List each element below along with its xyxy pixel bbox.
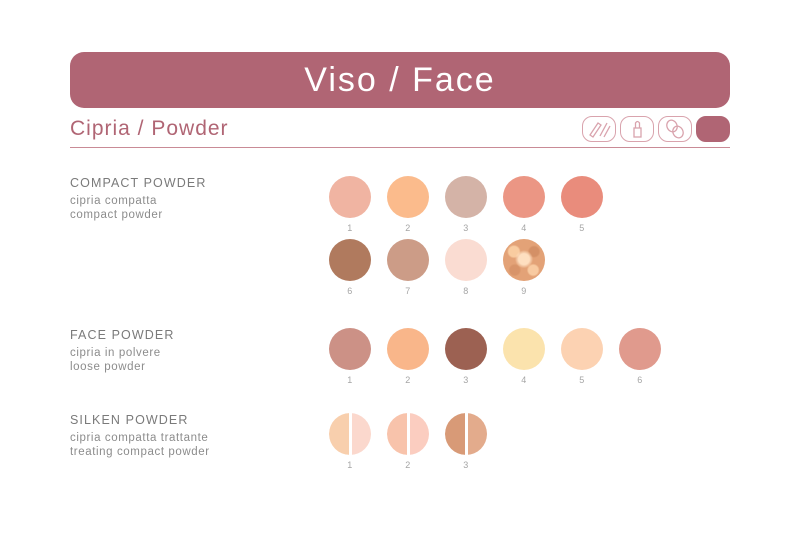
lipstick-icon[interactable] (620, 116, 654, 142)
shade-swatch[interactable] (619, 328, 661, 370)
subcategory-title: Cipria / Powder (70, 117, 229, 141)
section-title: FACE POWDER (70, 328, 320, 342)
section-title: COMPACT POWDER (70, 176, 320, 190)
page-title-bar: Viso / Face (70, 52, 730, 108)
section-subtitle-it: cipria compatta trattante (70, 431, 320, 445)
swatch-cell[interactable]: 7 (383, 239, 433, 296)
swatch-cell[interactable]: 6 (325, 239, 375, 296)
active-category-swatch-icon[interactable] (696, 116, 730, 142)
section-subtitle-it: cipria compatta (70, 194, 320, 208)
swatch-number: 5 (579, 223, 585, 233)
shade-swatch[interactable] (329, 176, 371, 218)
swatch-cell[interactable]: 5 (557, 176, 607, 233)
swatch-cell[interactable]: 2 (383, 176, 433, 233)
swatch-number: 3 (463, 375, 469, 385)
swatch-number: 9 (521, 286, 527, 296)
swatch-cell[interactable]: 4 (499, 176, 549, 233)
shade-swatch[interactable] (445, 413, 487, 455)
swatch-cell[interactable]: 3 (441, 328, 491, 385)
swatch-number: 6 (347, 286, 353, 296)
shade-swatch[interactable] (387, 413, 429, 455)
swatch-row: 123 (325, 413, 491, 470)
swatch-number: 3 (463, 223, 469, 233)
swatch-cell[interactable]: 5 (557, 328, 607, 385)
swatch-half-left (387, 413, 407, 455)
swatch-half-left (445, 413, 465, 455)
swatch-row: 6789 (325, 239, 607, 296)
swatch-row: 123456 (325, 328, 665, 385)
swatch-number: 8 (463, 286, 469, 296)
swatch-number: 6 (637, 375, 643, 385)
swatch-number: 3 (463, 460, 469, 470)
swatch-half-right (352, 413, 372, 455)
swatch-number: 2 (405, 460, 411, 470)
catalog-page: Viso / Face Cipria / Powder (0, 0, 800, 555)
swatch-number: 7 (405, 286, 411, 296)
pencil-brush-icon[interactable] (582, 116, 616, 142)
shade-swatch[interactable] (387, 239, 429, 281)
swatch-cell[interactable]: 1 (325, 328, 375, 385)
swatch-cell[interactable]: 1 (325, 413, 375, 470)
shade-swatch[interactable] (329, 328, 371, 370)
swatch-number: 1 (347, 375, 353, 385)
shade-swatch[interactable] (445, 176, 487, 218)
swatch-number: 4 (521, 223, 527, 233)
swatch-cell[interactable]: 9 (499, 239, 549, 296)
shade-swatch[interactable] (503, 176, 545, 218)
shade-swatch[interactable] (387, 176, 429, 218)
swatch-cell[interactable]: 4 (499, 328, 549, 385)
category-icon-set (582, 116, 730, 142)
shade-swatch[interactable] (445, 328, 487, 370)
swatch-number: 1 (347, 223, 353, 233)
section-subtitle-en: treating compact powder (70, 445, 320, 459)
face-powder-icon[interactable] (658, 116, 692, 142)
subcategory-row: Cipria / Powder (70, 113, 730, 145)
swatch-half-right (410, 413, 430, 455)
section-subtitle-en: compact powder (70, 208, 320, 222)
swatch-cell[interactable]: 3 (441, 176, 491, 233)
section-subtitle-it: cipria in polvere (70, 346, 320, 360)
swatch-cell[interactable]: 6 (615, 328, 665, 385)
section-title: SILKEN POWDER (70, 413, 320, 427)
swatch-grid: 123456 (325, 328, 665, 391)
swatch-cell[interactable]: 2 (383, 413, 433, 470)
page-title: Viso / Face (304, 61, 495, 100)
shade-swatch[interactable] (329, 413, 371, 455)
swatch-cell[interactable]: 2 (383, 328, 433, 385)
swatch-cell[interactable]: 8 (441, 239, 491, 296)
swatch-number: 1 (347, 460, 353, 470)
shade-swatch[interactable] (329, 239, 371, 281)
shade-swatch[interactable] (561, 328, 603, 370)
shade-swatch[interactable] (503, 328, 545, 370)
section-subtitle-en: loose powder (70, 360, 320, 374)
swatch-grid: 123456789 (325, 176, 607, 302)
shade-swatch[interactable] (561, 176, 603, 218)
swatch-row: 12345 (325, 176, 607, 233)
swatch-cell[interactable]: 3 (441, 413, 491, 470)
swatch-number: 2 (405, 375, 411, 385)
swatch-number: 2 (405, 223, 411, 233)
shade-swatch[interactable] (503, 239, 545, 281)
swatch-grid: 123 (325, 413, 491, 476)
swatch-half-left (329, 413, 349, 455)
swatch-half-right (468, 413, 488, 455)
shade-swatch[interactable] (387, 328, 429, 370)
swatch-number: 5 (579, 375, 585, 385)
shade-swatch[interactable] (445, 239, 487, 281)
section-label: SILKEN POWDERcipria compatta trattantetr… (70, 413, 320, 459)
section-label: FACE POWDERcipria in polvereloose powder (70, 328, 320, 374)
swatch-cell[interactable]: 1 (325, 176, 375, 233)
section-label: COMPACT POWDERcipria compattacompact pow… (70, 176, 320, 222)
header-divider (70, 147, 730, 148)
swatch-number: 4 (521, 375, 527, 385)
